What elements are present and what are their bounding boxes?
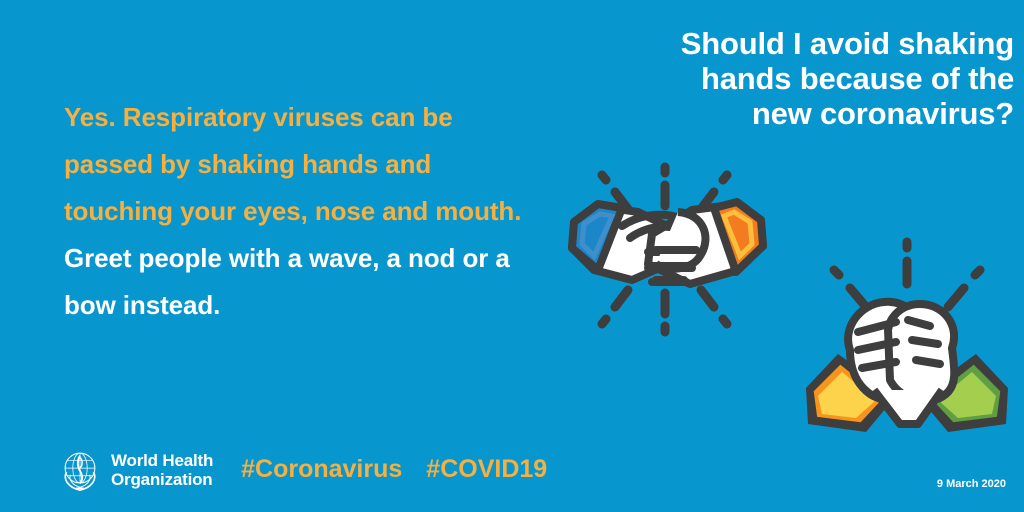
- handshake-illustration: [560, 152, 775, 347]
- spark-marks: [834, 242, 980, 307]
- page-title: Should I avoid shaking hands because of …: [584, 26, 1014, 131]
- headline-line-1: Should I avoid shaking: [584, 26, 1014, 61]
- hashtag-coronavirus: #Coronavirus: [241, 455, 402, 484]
- who-wordmark: World Health Organization: [111, 451, 213, 489]
- spark-marks-top: [602, 167, 727, 209]
- advice-paragraph: Greet people with a wave, a nod or a bow…: [64, 235, 534, 329]
- spark-marks-bottom: [602, 290, 727, 332]
- hashtags: #Coronavirus #COVID19: [241, 455, 547, 486]
- footer: World Health Organization #Coronavirus #…: [56, 446, 547, 494]
- clasped-hands-illustration: [792, 228, 1022, 443]
- date-stamp: 9 March 2020: [937, 478, 1006, 490]
- hashtag-covid19: #COVID19: [426, 455, 547, 484]
- who-wordmark-line-2: Organization: [111, 470, 213, 489]
- who-logo: World Health Organization: [56, 446, 213, 494]
- poster-canvas: Should I avoid shaking hands because of …: [0, 0, 1024, 512]
- answer-paragraph: Yes. Respiratory viruses can be passed b…: [64, 94, 534, 235]
- headline-line-2: hands because of the: [584, 61, 1014, 96]
- body-copy: Yes. Respiratory viruses can be passed b…: [64, 94, 534, 329]
- headline-line-3: new coronavirus?: [584, 96, 1014, 131]
- who-emblem-icon: [56, 446, 104, 494]
- who-wordmark-line-1: World Health: [111, 451, 213, 470]
